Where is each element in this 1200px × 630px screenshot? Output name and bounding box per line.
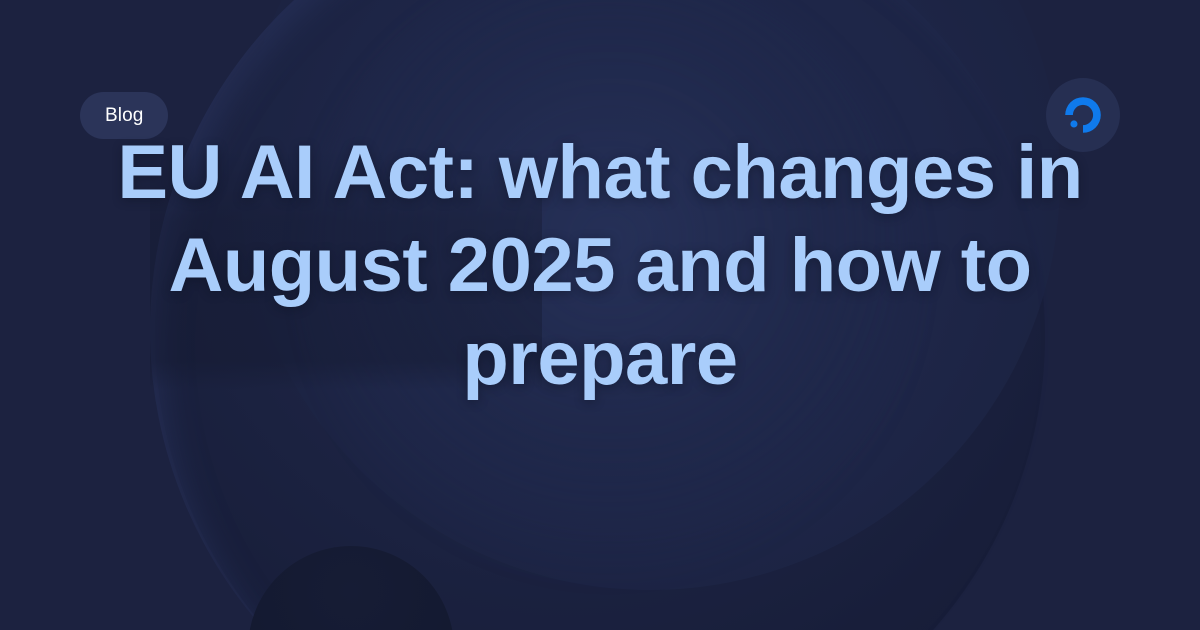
open-graph-share-card: Blog EU AI Act: what changes in August 2… xyxy=(0,0,1200,630)
page-title: EU AI Act: what changes in August 2025 a… xyxy=(90,126,1110,405)
card-content: Blog EU AI Act: what changes in August 2… xyxy=(0,0,1200,630)
category-badge-label: Blog xyxy=(105,105,143,127)
